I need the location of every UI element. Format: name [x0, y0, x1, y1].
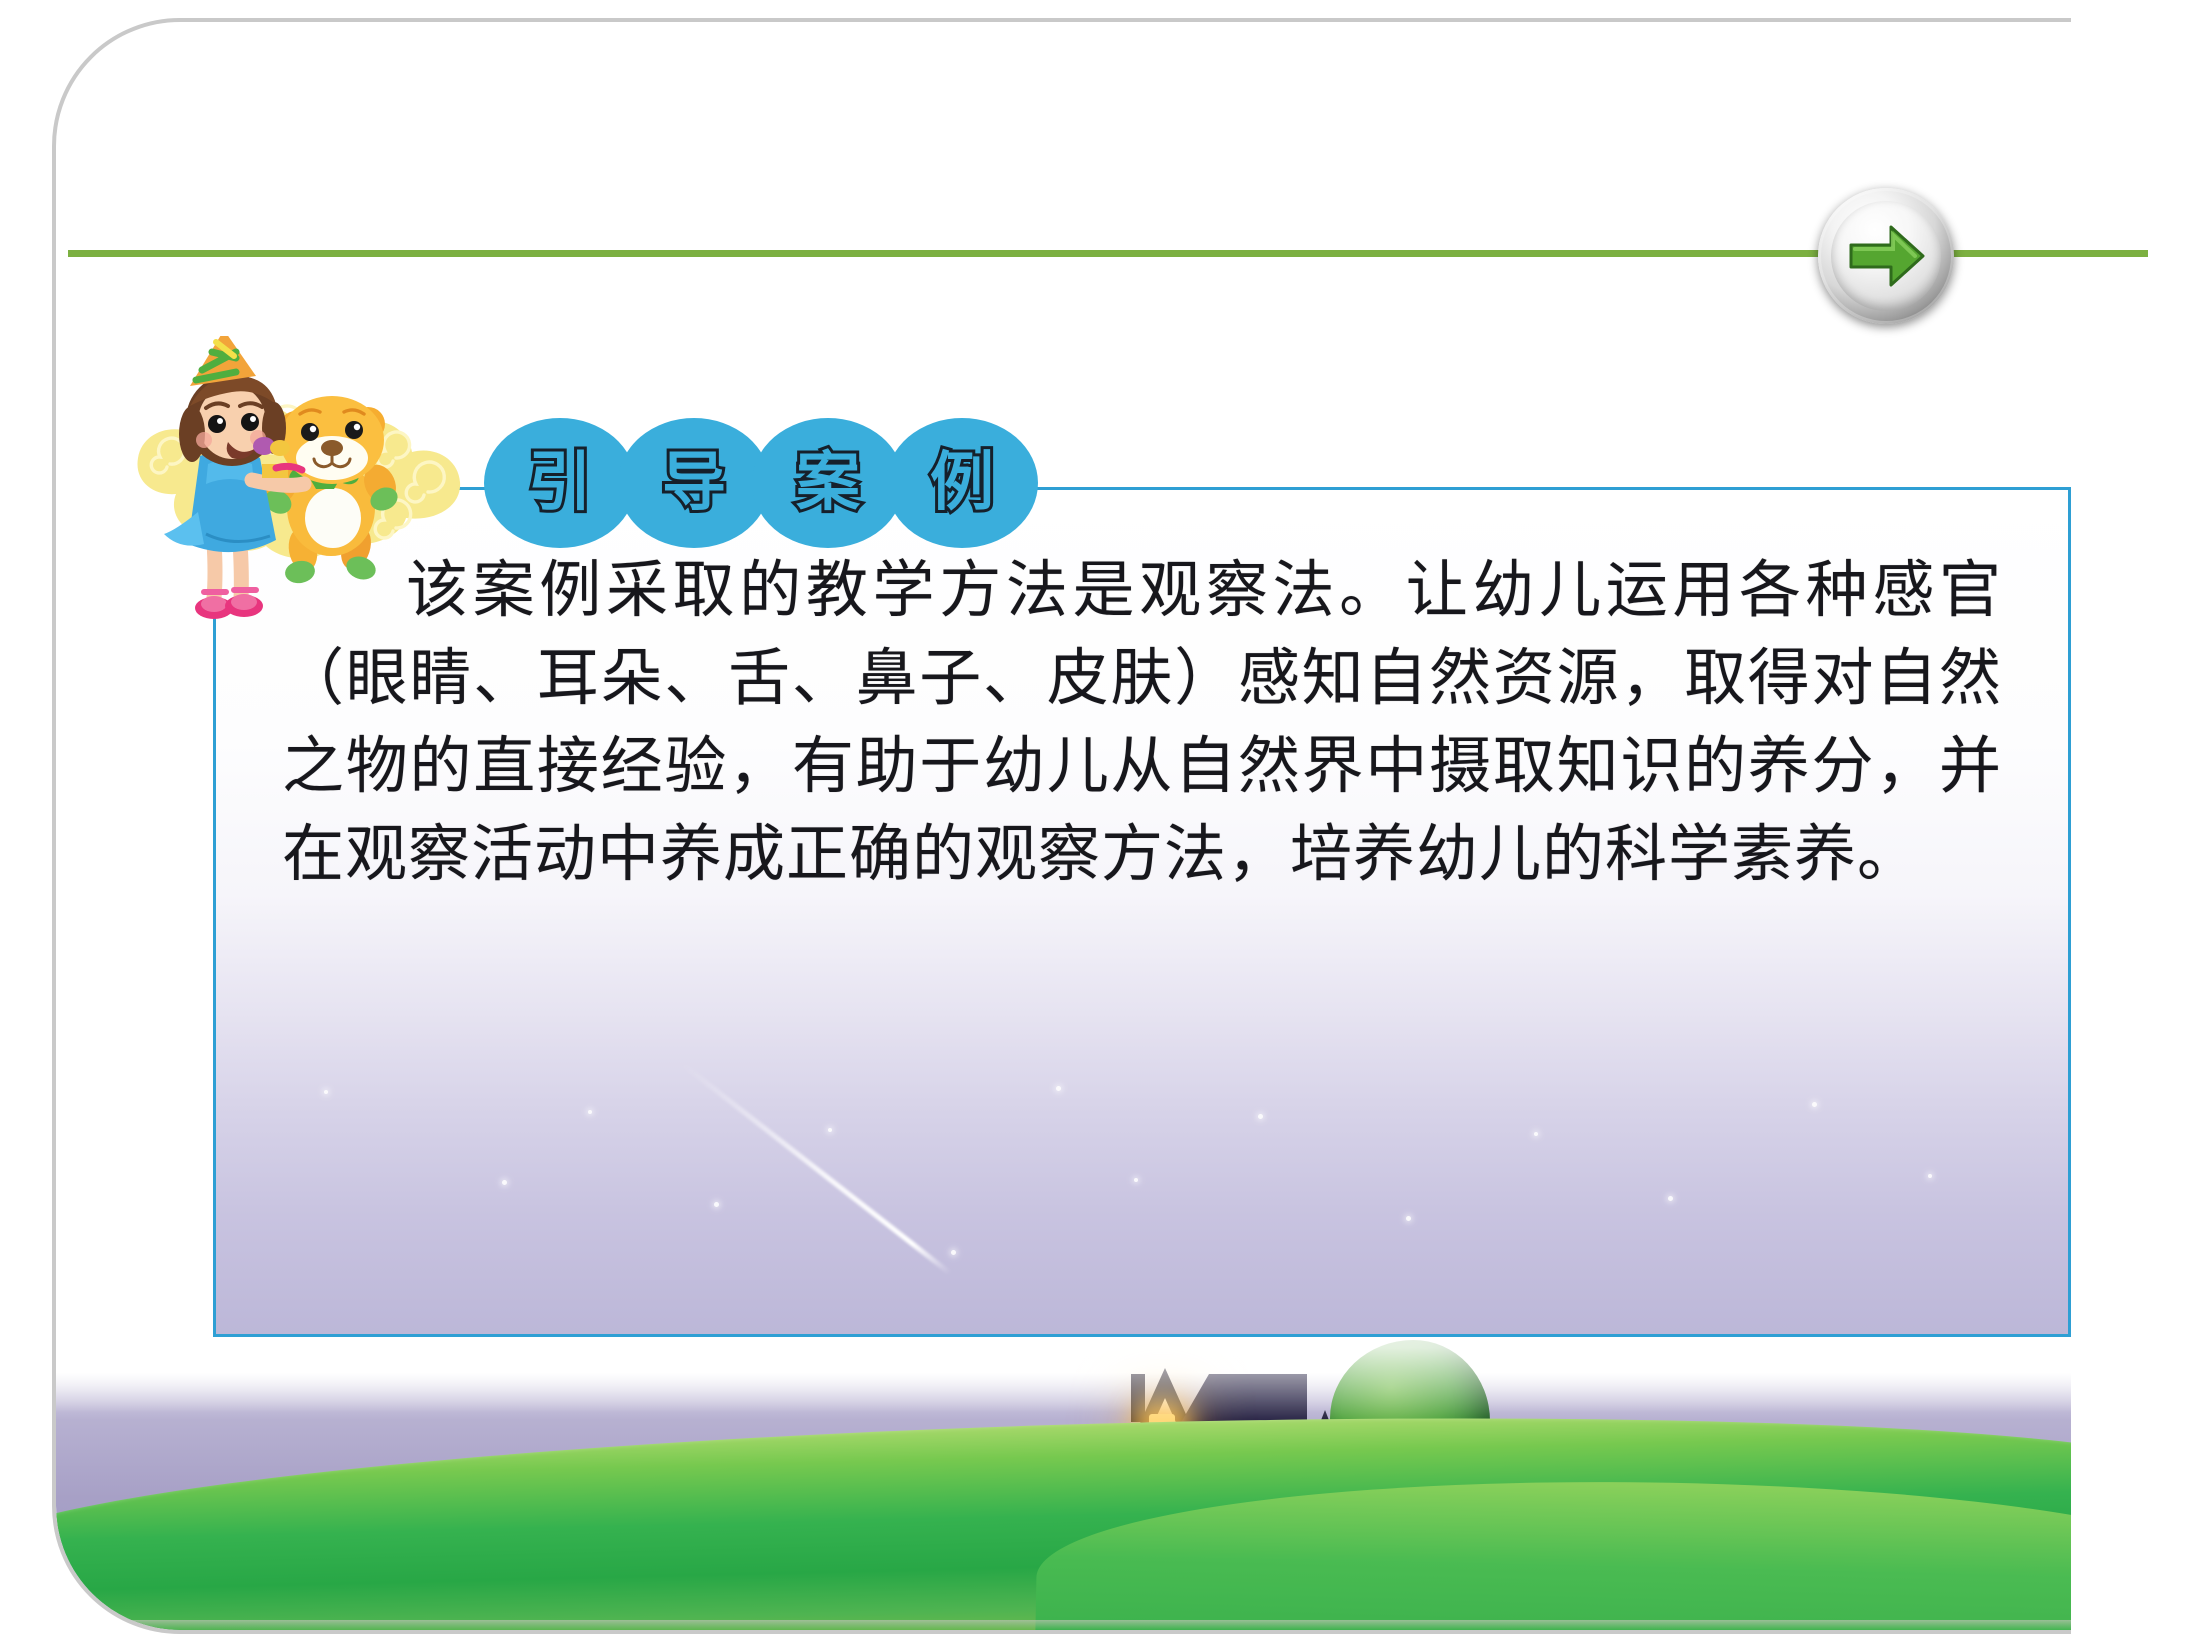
shooting-star — [680, 1062, 951, 1275]
star — [588, 1110, 592, 1114]
star — [1534, 1132, 1538, 1136]
star — [1812, 1102, 1817, 1107]
case-body-text: 该案例采取的教学方法是观察法。让幼儿运用各种感官（眼睛、耳朵、舌、鼻子、皮肤）感… — [216, 490, 2068, 898]
star — [1668, 1196, 1673, 1201]
star — [1406, 1216, 1411, 1221]
landscape-photo — [56, 1300, 2144, 1630]
star — [1258, 1114, 1263, 1119]
arrow-right-icon — [1818, 188, 1954, 324]
star — [324, 1090, 328, 1094]
slide-root: 该案例采取的教学方法是观察法。让幼儿运用各种感官（眼睛、耳朵、舌、鼻子、皮肤）感… — [0, 0, 2200, 1650]
star — [951, 1250, 956, 1255]
right-gutter — [2071, 0, 2151, 1650]
star — [828, 1128, 832, 1132]
star — [714, 1202, 719, 1207]
star — [1134, 1178, 1138, 1182]
photo-bottom-strip — [56, 1620, 2144, 1630]
content-box: 该案例采取的教学方法是观察法。让幼儿运用各种感官（眼睛、耳朵、舌、鼻子、皮肤）感… — [213, 487, 2071, 1337]
star — [502, 1180, 507, 1185]
star — [1056, 1086, 1061, 1091]
next-page-button[interactable] — [1818, 188, 1954, 324]
star — [1928, 1174, 1932, 1178]
